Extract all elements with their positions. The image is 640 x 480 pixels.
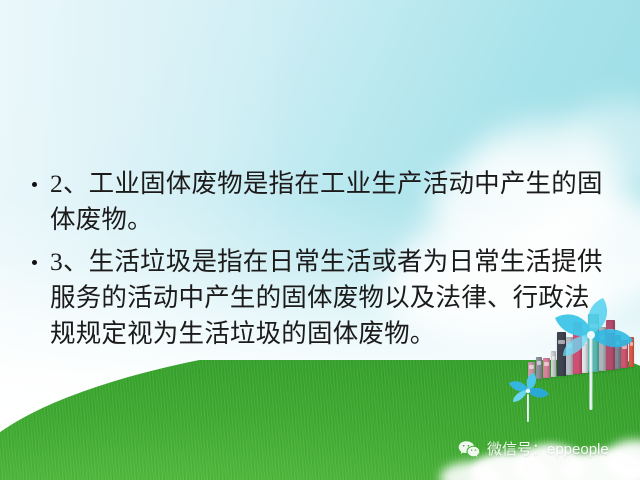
bullet-item-2: 3、生活垃圾是指在日常生活或者为日常生活提供服务的活动中产生的固体废物以及法律、… <box>24 244 614 352</box>
bullet-text: 3、生活垃圾是指在日常生活或者为日常生活提供服务的活动中产生的固体废物以及法律、… <box>50 247 603 348</box>
bullet-item-1: 2、工业固体废物是指在工业生产活动中产生的固体废物。 <box>24 166 614 238</box>
wechat-icon <box>458 440 480 458</box>
slide-body: 2、工业固体废物是指在工业生产活动中产生的固体废物。 3、生活垃圾是指在日常生活… <box>0 0 640 480</box>
watermark-label: 微信号：eppeople <box>487 438 609 459</box>
bullet-list: 2、工业固体废物是指在工业生产活动中产生的固体废物。 3、生活垃圾是指在日常生活… <box>24 166 614 358</box>
wechat-watermark: 微信号：eppeople <box>458 438 609 459</box>
bullet-text: 2、工业固体废物是指在工业生产活动中产生的固体废物。 <box>50 169 603 234</box>
slide-canvas: 2、工业固体废物是指在工业生产活动中产生的固体废物。 3、生活垃圾是指在日常生活… <box>0 0 640 480</box>
